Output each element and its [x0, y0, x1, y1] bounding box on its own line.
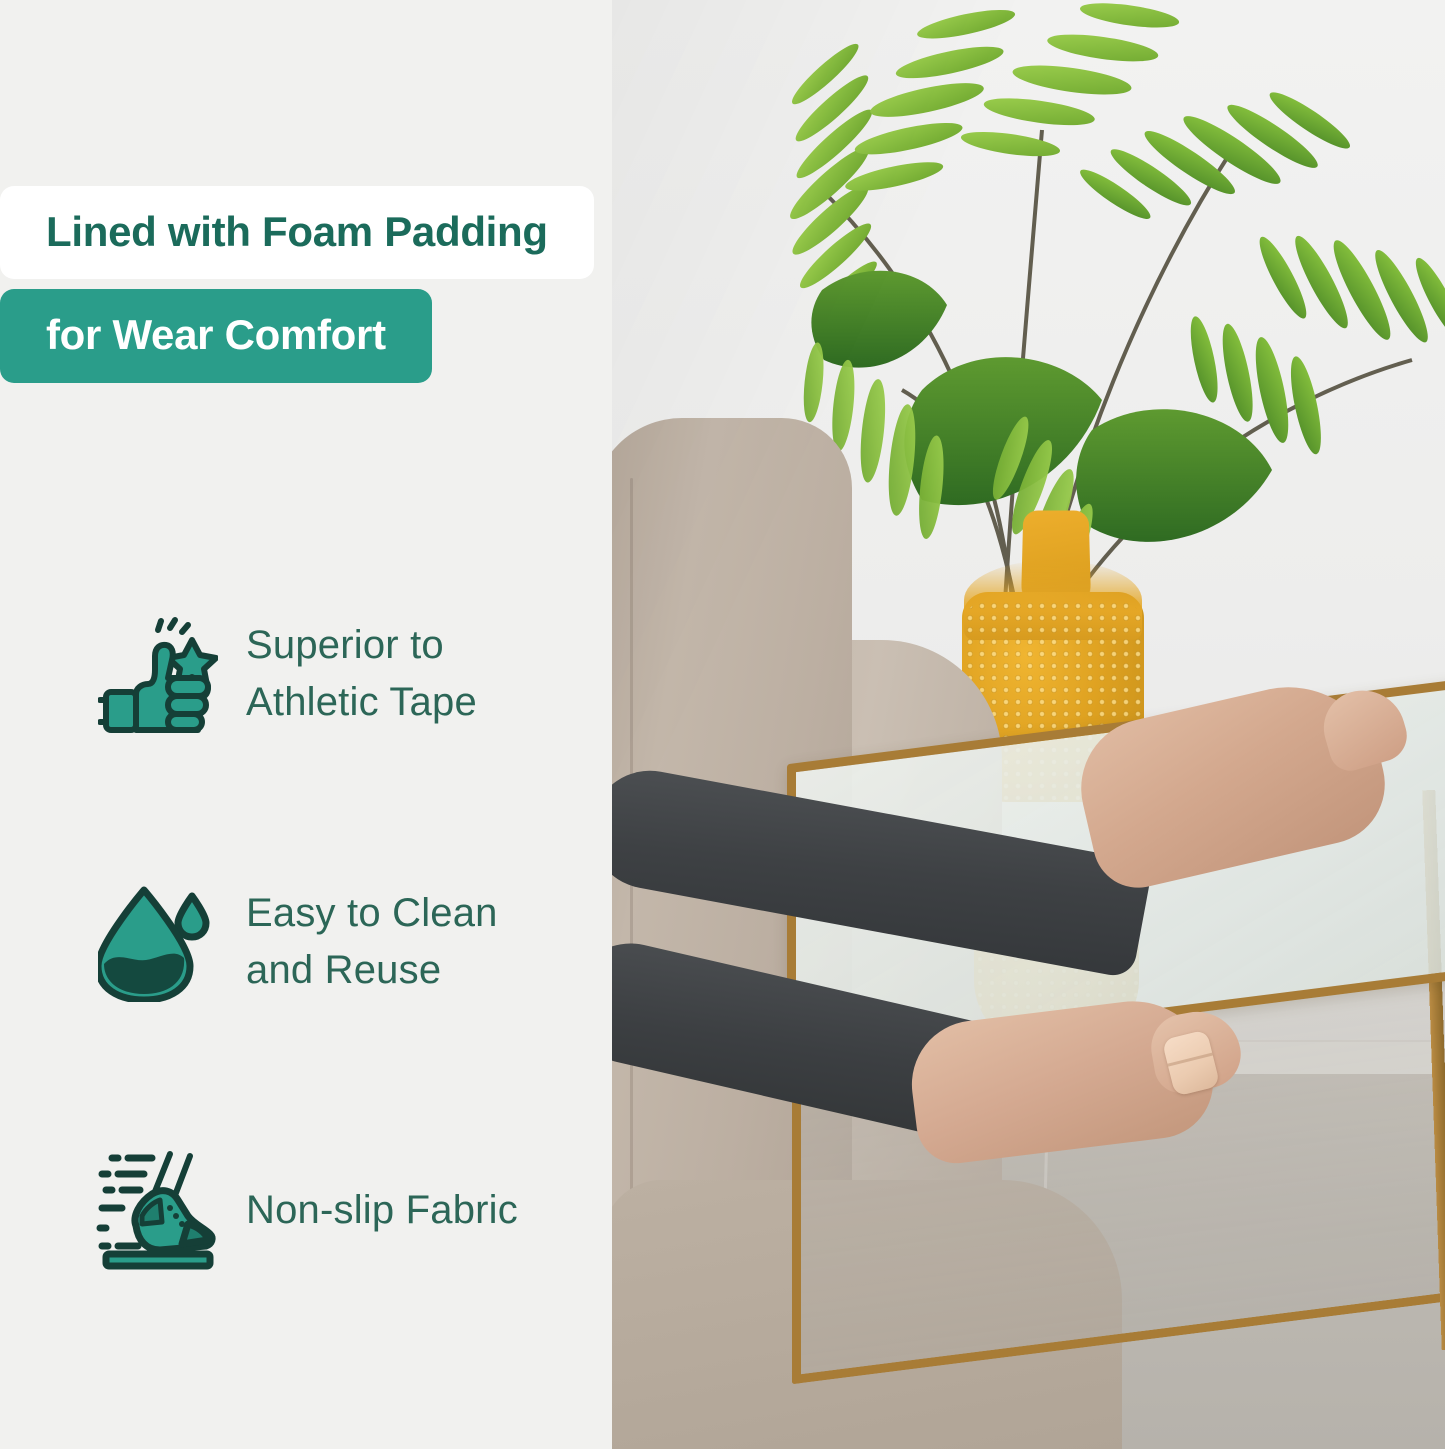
headline-line-2: for Wear Comfort [0, 289, 432, 383]
feature-item-easy-to-clean-and-reuse: Easy to Clean and Reuse [0, 808, 612, 1076]
thumbs-up-star-icon [92, 608, 224, 740]
feature-label-easy-clean: Easy to Clean and Reuse [246, 885, 498, 999]
feature-label-superior: Superior to Athletic Tape [246, 617, 477, 731]
feature-item-superior-to-athletic-tape: Superior to Athletic Tape [0, 540, 612, 808]
headline-line-1: Lined with Foam Padding [0, 186, 594, 279]
running-shoe-icon [92, 1144, 224, 1276]
headline-block: Lined with Foam Padding for Wear Comfort [0, 186, 594, 383]
water-droplet-icon [92, 876, 224, 1008]
feature-label-line-1: Non-slip Fabric [246, 1182, 518, 1239]
feature-label-line-2: Athletic Tape [246, 674, 477, 731]
feature-label-line-1: Easy to Clean [246, 885, 498, 942]
product-lifestyle-photo [612, 0, 1445, 1449]
feature-label-line-1: Superior to [246, 617, 477, 674]
feature-label-non-slip: Non-slip Fabric [246, 1182, 518, 1239]
infographic-canvas: Lined with Foam Padding for Wear Comfort [0, 0, 1445, 1449]
feature-list: Superior to Athletic Tape [0, 540, 612, 1344]
feature-label-line-2: and Reuse [246, 942, 498, 999]
feature-item-non-slip-fabric: Non-slip Fabric [0, 1076, 612, 1344]
